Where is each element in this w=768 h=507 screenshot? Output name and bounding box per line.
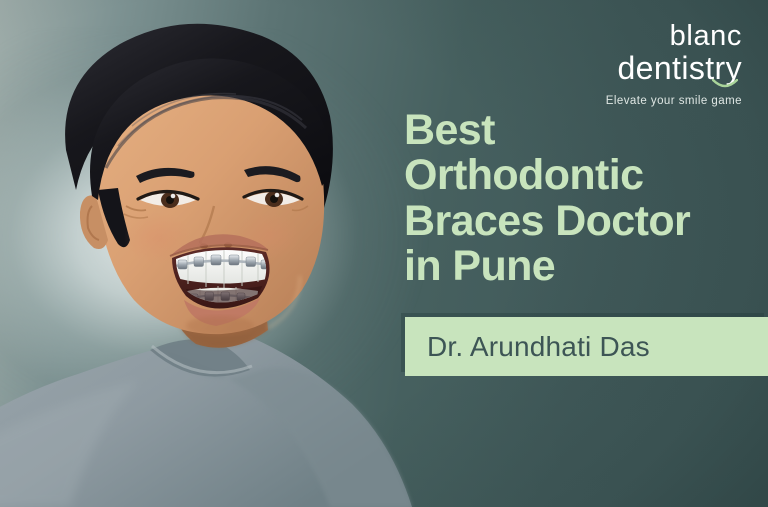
page-title: Best Orthodontic Braces Doctor in Pune xyxy=(404,108,768,289)
logo-text-dentistry-wrap: dentistry xyxy=(606,52,742,86)
headline-line-4: in Pune xyxy=(404,244,768,289)
logo-tagline: Elevate your smile game xyxy=(606,96,742,108)
subject-photo xyxy=(0,0,430,507)
headline-line-3: Braces Doctor xyxy=(404,199,768,244)
dental-ad-banner: blanc dentistry Elevate your smile game … xyxy=(0,0,768,507)
logo-text-blanc: blanc xyxy=(606,22,742,52)
headline-line-1: Best xyxy=(404,108,768,153)
brand-logo[interactable]: blanc dentistry Elevate your smile game xyxy=(606,22,742,108)
smile-swoosh-icon xyxy=(712,79,738,90)
doctor-name-text: Dr. Arundhati Das xyxy=(405,331,650,363)
headline-line-2: Orthodontic xyxy=(404,153,768,198)
doctor-name-banner: Dr. Arundhati Das xyxy=(405,317,768,376)
